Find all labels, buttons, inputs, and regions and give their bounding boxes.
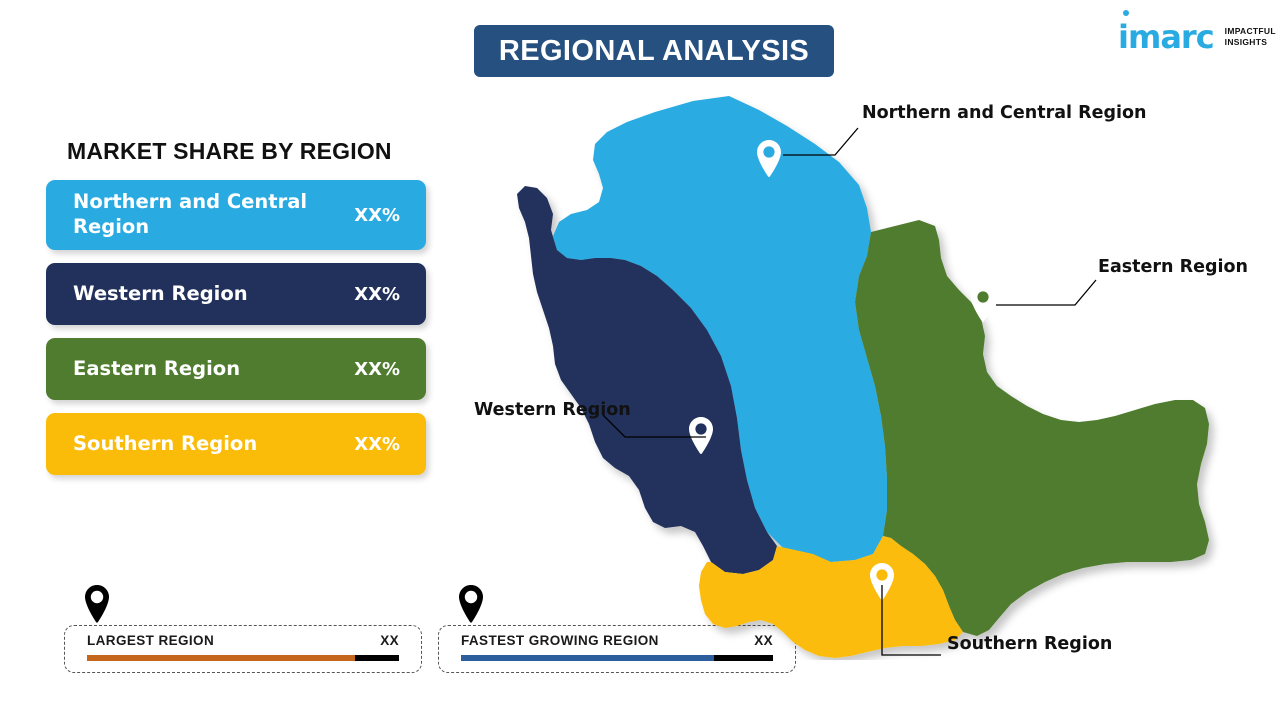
logo-dot-icon (1123, 10, 1129, 16)
imarc-logo: imarc IMPACTFUL INSIGHTS (1118, 16, 1270, 58)
legend-list: Northern and Central Region XX% Western … (46, 180, 431, 488)
legend-item-label: Northern and Central Region (73, 190, 354, 240)
logo-wordmark: imarc (1118, 21, 1214, 53)
legend-item-northern-central[interactable]: Northern and Central Region XX% (46, 180, 426, 250)
largest-region-progress-fill (87, 655, 355, 661)
logo-tagline-line1: IMPACTFUL (1225, 26, 1276, 36)
callout-label-southern: Southern Region (947, 634, 1112, 654)
legend-item-value: XX% (354, 205, 400, 226)
page-title: REGIONAL ANALYSIS (499, 35, 809, 68)
largest-region-label: LARGEST REGION (87, 633, 214, 648)
map-pin-icon (456, 584, 486, 624)
legend-item-value: XX% (354, 284, 400, 305)
legend-item-label: Eastern Region (73, 357, 354, 382)
legend-item-eastern[interactable]: Eastern Region XX% (46, 338, 426, 400)
largest-region-progress (87, 655, 399, 661)
logo-tagline-line2: INSIGHTS (1225, 37, 1268, 47)
saudi-arabia-region-map (515, 80, 1235, 660)
logo-tagline: IMPACTFUL INSIGHTS (1225, 26, 1276, 49)
infographic-page: REGIONAL ANALYSIS imarc IMPACTFUL INSIGH… (0, 0, 1280, 720)
legend-item-value: XX% (354, 434, 400, 455)
legend-item-label: Southern Region (73, 432, 354, 457)
legend-item-southern[interactable]: Southern Region XX% (46, 413, 426, 475)
legend-heading: MARKET SHARE BY REGION (67, 138, 392, 165)
callout-label-eastern: Eastern Region (1098, 257, 1248, 277)
callout-label-northern-central: Northern and Central Region (862, 103, 1146, 123)
largest-region-box: LARGEST REGION XX (64, 625, 422, 673)
page-title-banner: REGIONAL ANALYSIS (474, 25, 834, 77)
largest-region-block: LARGEST REGION XX (64, 584, 422, 673)
callout-label-western: Western Region (474, 400, 631, 420)
legend-item-value: XX% (354, 359, 400, 380)
legend-item-label: Western Region (73, 282, 354, 307)
legend-item-western[interactable]: Western Region XX% (46, 263, 426, 325)
map-pin-icon (82, 584, 112, 624)
largest-region-value: XX (380, 633, 399, 648)
